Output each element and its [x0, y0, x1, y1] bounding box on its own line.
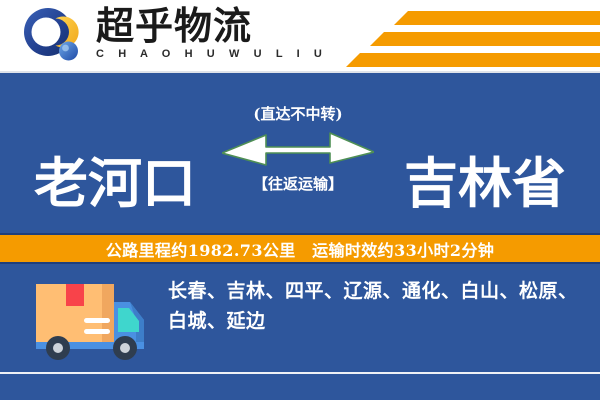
destination-city: 吉林省 — [404, 156, 566, 210]
route-section: 老河口 (直达不中转) 【往返运输】 吉林省 — [0, 73, 600, 229]
brand-block: 超乎物流 C H A O H U W U L I U — [96, 6, 327, 61]
route-stats-bar: 公路里程约1982.73公里 运输时效约33小时2分钟 — [0, 233, 600, 264]
banner-header: 超乎物流 C H A O H U W U L I U — [0, 0, 600, 71]
origin-city: 老河口 — [34, 156, 196, 210]
speed-stripe-1 — [394, 11, 600, 25]
coverage-city-list: 长春、吉林、四平、辽源、通化、白山、松原、白城、延边 — [168, 276, 580, 336]
logistics-route-banner: 超乎物流 C H A O H U W U L I U 老河口 (直达不中转) 【… — [0, 0, 600, 400]
route-arrow-group: (直达不中转) 【往返运输】 — [222, 105, 374, 215]
double-headed-arrow-icon — [222, 129, 374, 169]
direct-shipping-note: (直达不中转) — [222, 105, 374, 123]
roundtrip-shipping-note: 【往返运输】 — [222, 175, 374, 193]
brand-name-cn: 超乎物流 — [96, 6, 327, 46]
circle-crescent-logo-icon — [22, 7, 84, 65]
coverage-section: 长春、吉林、四平、辽源、通化、白山、松原、白城、延边 — [0, 264, 600, 372]
footer-strip — [0, 374, 600, 400]
speed-stripe-3 — [346, 53, 600, 67]
delivery-truck-icon — [26, 276, 154, 362]
route-stats-text: 公路里程约1982.73公里 运输时效约33小时2分钟 — [106, 237, 495, 261]
brand-name-en: C H A O H U W U L I U — [96, 48, 327, 61]
speed-stripe-2 — [370, 32, 600, 46]
